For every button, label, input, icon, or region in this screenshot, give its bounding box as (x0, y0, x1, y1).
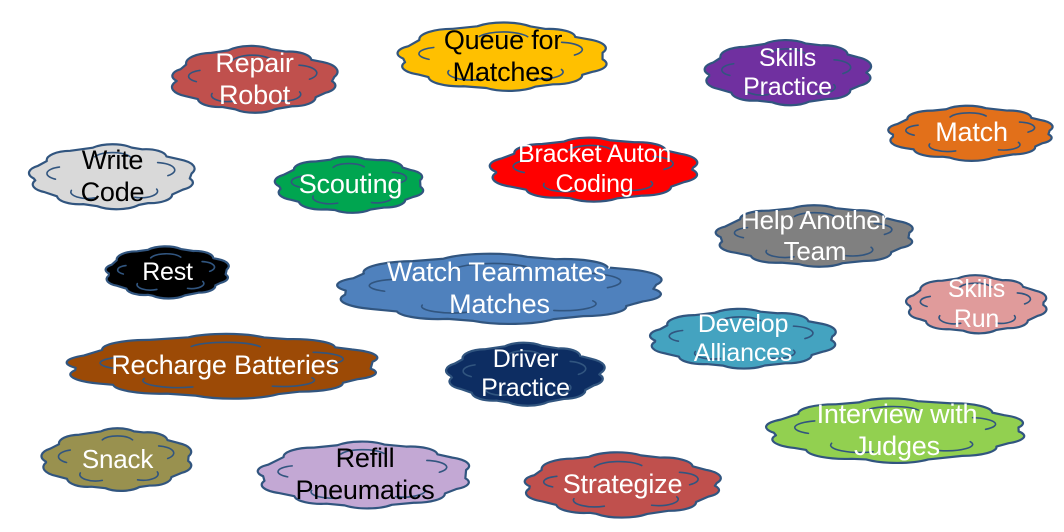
cloud-strategize[interactable]: Strategize (500, 438, 745, 532)
cloud-shape-skills-practice (685, 25, 890, 121)
cloud-shape-snack (25, 413, 210, 506)
cloud-shape-rest (90, 235, 245, 310)
cloud-skills-run[interactable]: Skills Run (889, 262, 1064, 347)
cloud-repair-robot[interactable]: Repair Robot (152, 31, 357, 128)
cloud-scouting[interactable]: Scouting (258, 143, 443, 226)
cloud-refill-pneumatics[interactable]: Refill Pneumatics (230, 425, 500, 525)
cloud-queue-for-matches[interactable]: Queue for Matches (372, 7, 634, 107)
cloud-shape-bracket-auton-coding (467, 122, 722, 217)
cloud-interview-with-judges[interactable]: Interview with Judges (737, 383, 1057, 478)
cloud-shape-queue-for-matches (372, 7, 634, 107)
cloud-driver-practice[interactable]: Driver Practice (428, 328, 623, 420)
cloud-match[interactable]: Match (869, 93, 1064, 173)
cloud-shape-interview-with-judges (737, 383, 1057, 478)
cloud-develop-alliances[interactable]: Develop Alliances (628, 295, 858, 383)
cloud-shape-develop-alliances (628, 295, 858, 383)
cloud-snack[interactable]: Snack (25, 413, 210, 506)
cloud-bracket-auton-coding[interactable]: Bracket Auton Coding (467, 122, 722, 217)
cloud-shape-strategize (500, 438, 745, 532)
cloud-recharge-batteries[interactable]: Recharge Batteries (30, 319, 420, 413)
cloud-rest[interactable]: Rest (90, 235, 245, 310)
cloud-shape-write-code (10, 129, 215, 224)
cloud-shape-refill-pneumatics (230, 425, 500, 525)
cloud-shape-scouting (258, 143, 443, 226)
cloud-shape-skills-run (889, 262, 1064, 347)
cloud-shape-repair-robot (152, 31, 357, 128)
cloud-shape-recharge-batteries (30, 319, 420, 413)
cloud-shape-match (869, 93, 1064, 173)
cloud-skills-practice[interactable]: Skills Practice (685, 25, 890, 121)
cloud-write-code[interactable]: Write Code (10, 129, 215, 224)
cloud-diagram-canvas: Repair RobotQueue for MatchesSkills Prac… (0, 0, 1064, 532)
cloud-shape-driver-practice (428, 328, 623, 420)
